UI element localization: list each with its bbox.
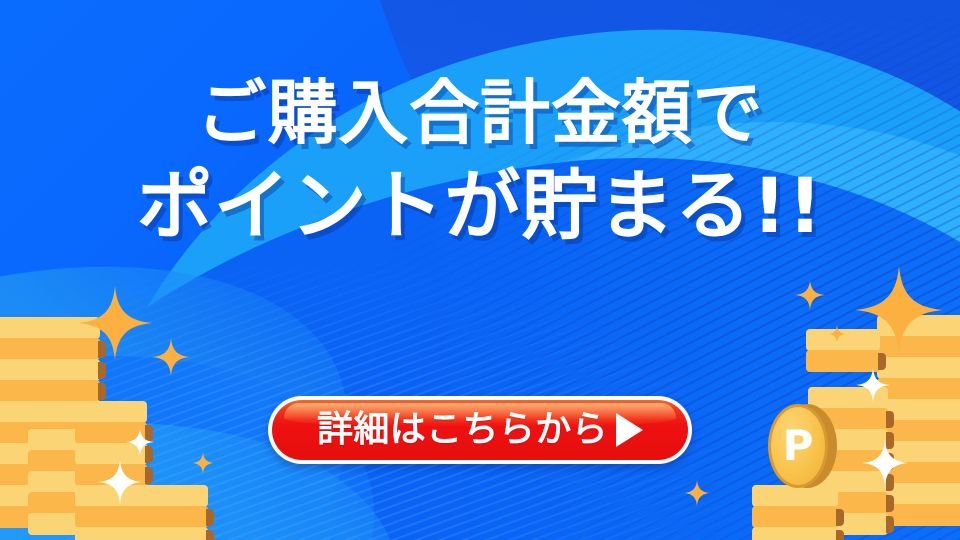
- detail-cta-surface[interactable]: 詳細はこちらから: [272, 400, 688, 460]
- detail-cta-label: 詳細はこちらから: [317, 412, 608, 448]
- promo-banner: ご購入合計金額で ポイントが貯まる!!: [0, 0, 960, 540]
- background-streak-lines-left: [60, 180, 880, 540]
- detail-cta-button[interactable]: 詳細はこちらから: [268, 396, 692, 464]
- play-triangle-icon: [616, 413, 643, 447]
